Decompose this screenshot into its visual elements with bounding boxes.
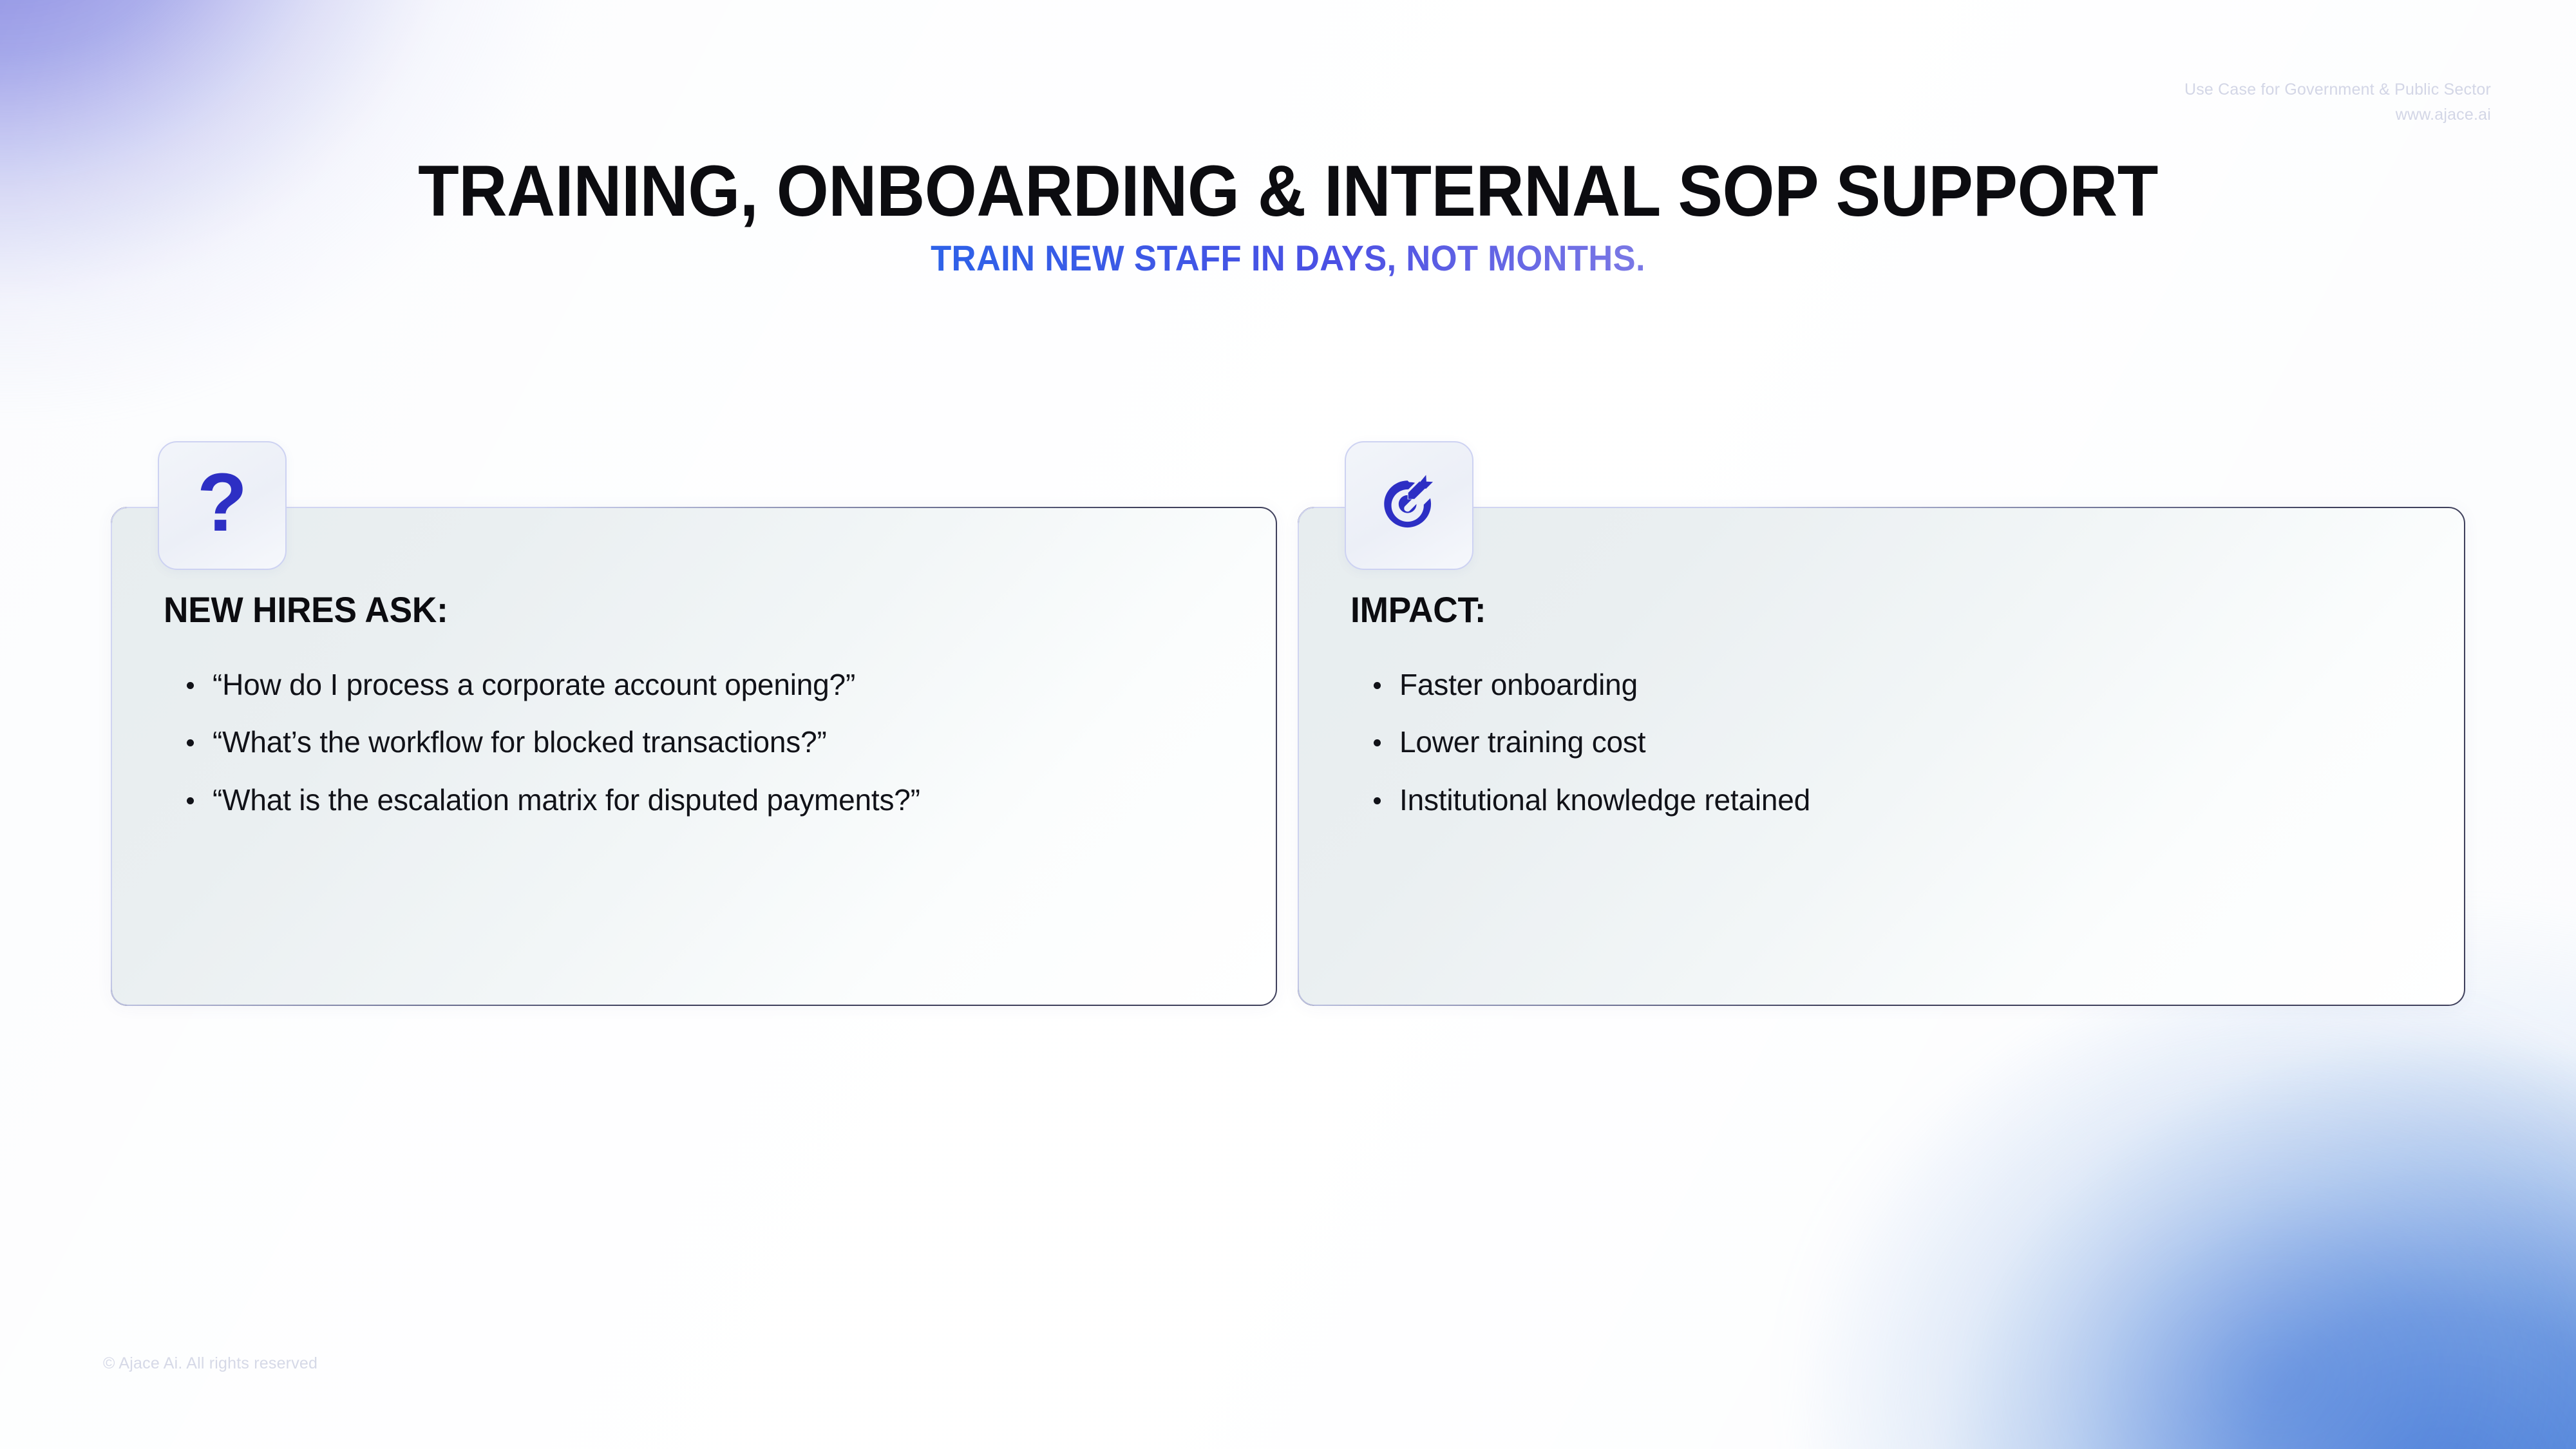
impact-list: Faster onboarding Lower training cost In…: [1363, 668, 2425, 840]
slide-meta: Use Case for Government & Public Sector …: [2184, 77, 2491, 128]
card-new-hires-ask: NEW HIRES ASK: “How do I process a corpo…: [111, 507, 1277, 1006]
website-label: www.ajace.ai: [2184, 102, 2491, 128]
question-mark-icon: ?: [197, 462, 247, 544]
card-title-new-hires-ask: NEW HIRES ASK:: [164, 589, 448, 630]
use-case-label: Use Case for Government & Public Sector: [2184, 77, 2491, 102]
card-impact: IMPACT: Faster onboarding Lower training…: [1298, 507, 2465, 1006]
copyright-label: © Ajace Ai. All rights reserved: [103, 1354, 317, 1373]
page-subtitle: TRAIN NEW STAFF IN DAYS, NOT MONTHS.: [77, 237, 2499, 279]
list-item: Institutional knowledge retained: [1363, 783, 2425, 817]
new-hires-ask-list: “How do I process a corporate account op…: [176, 668, 1237, 840]
slide-canvas: Use Case for Government & Public Sector …: [0, 0, 2576, 1449]
list-item: “What’s the workflow for blocked transac…: [176, 725, 1237, 759]
badge-impact: [1345, 441, 1473, 570]
list-item: “What is the escalation matrix for dispu…: [176, 783, 1237, 817]
badge-new-hires-ask: ?: [158, 441, 287, 570]
list-item: Lower training cost: [1363, 725, 2425, 759]
list-item: “How do I process a corporate account op…: [176, 668, 1237, 702]
target-arrow-icon: [1373, 469, 1445, 542]
page-title: TRAINING, ONBOARDING & INTERNAL SOP SUPP…: [90, 149, 2486, 232]
card-title-impact: IMPACT:: [1350, 589, 1486, 630]
list-item: Faster onboarding: [1363, 668, 2425, 702]
